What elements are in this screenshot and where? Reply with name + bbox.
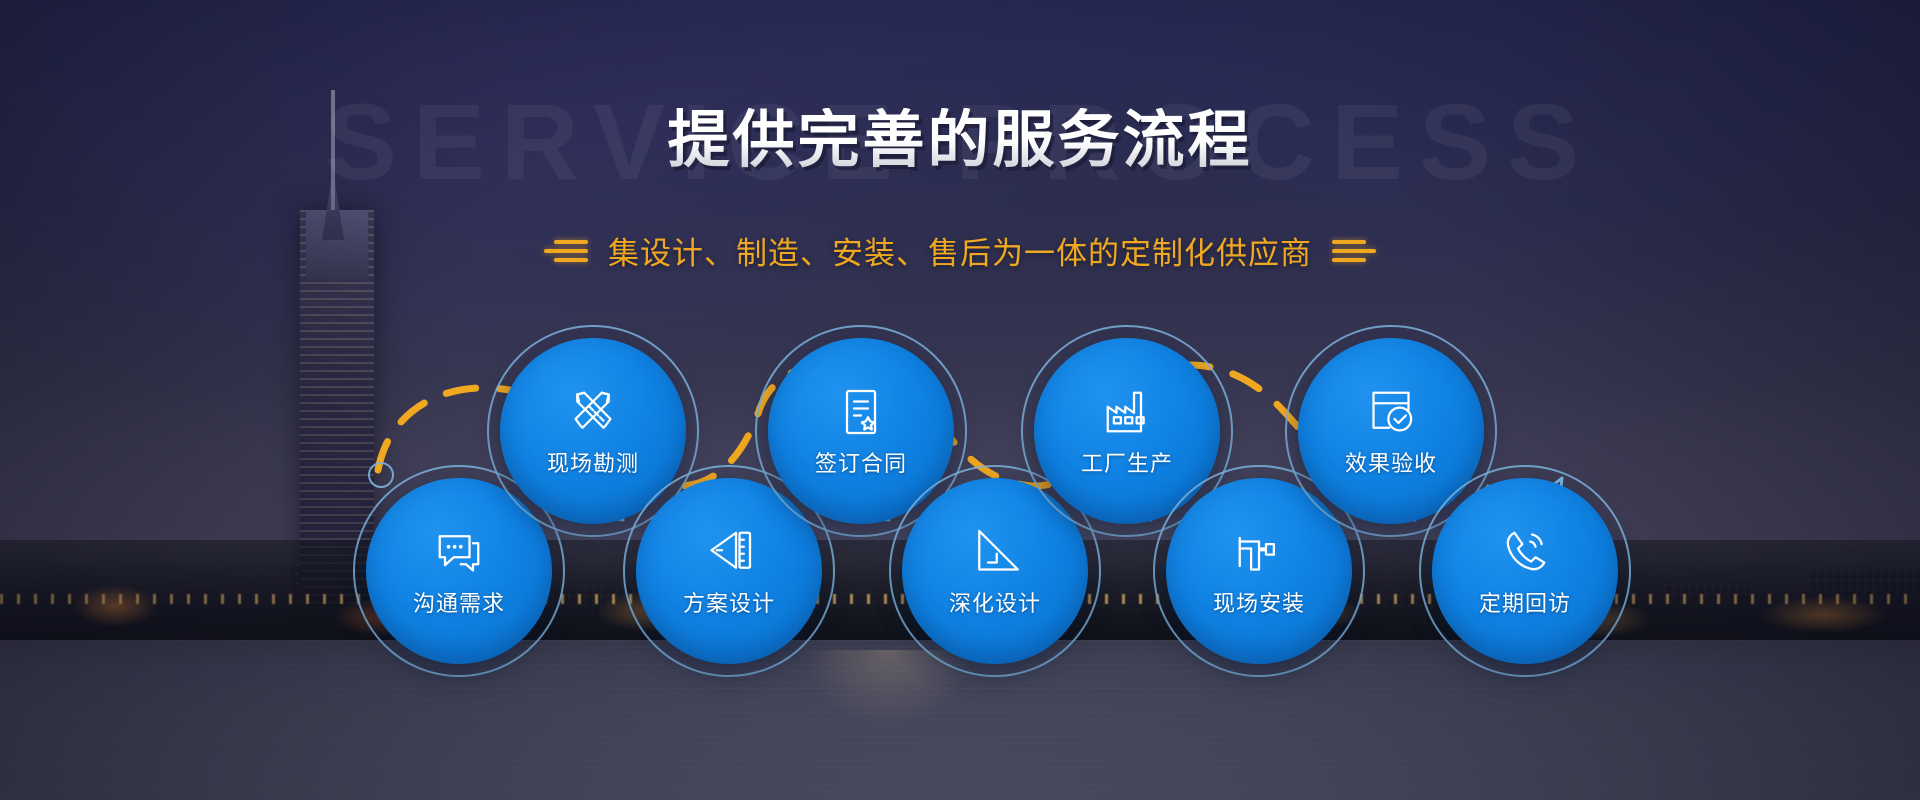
window-check-icon: [1363, 384, 1419, 440]
node-disc[interactable]: 定期回访: [1432, 478, 1618, 664]
contract-seal-icon: [833, 384, 889, 440]
flow-step-label: 现场勘测: [547, 446, 639, 478]
ruler-draft-icon: [701, 524, 757, 580]
flow-step-label: 定期回访: [1479, 586, 1571, 618]
flow-step-label: 工厂生产: [1081, 446, 1173, 478]
flow-step-label: 沟通需求: [413, 586, 505, 618]
flow-step-label: 深化设计: [949, 586, 1041, 618]
set-square-icon: [967, 524, 1023, 580]
chat-bubble-icon: [431, 524, 487, 580]
factory-icon: [1099, 384, 1155, 440]
pencil-ruler-icon: [565, 384, 621, 440]
service-process-banner: SERVICE PROCESS 提供完善的服务流程 集设计、制造、安装、售后为一…: [0, 0, 1920, 800]
phone-call-icon: [1497, 524, 1553, 580]
process-flow-diagram: .dashpath{fill:none;stroke:#f0a821;strok…: [0, 0, 1920, 800]
flow-step-label: 现场安装: [1213, 586, 1305, 618]
flow-step-9-定期回访[interactable]: 定期回访: [1432, 478, 1618, 664]
power-drill-icon: [1231, 524, 1287, 580]
flow-step-label: 签订合同: [815, 446, 907, 478]
flow-step-label: 方案设计: [683, 586, 775, 618]
flow-step-label: 效果验收: [1345, 446, 1437, 478]
